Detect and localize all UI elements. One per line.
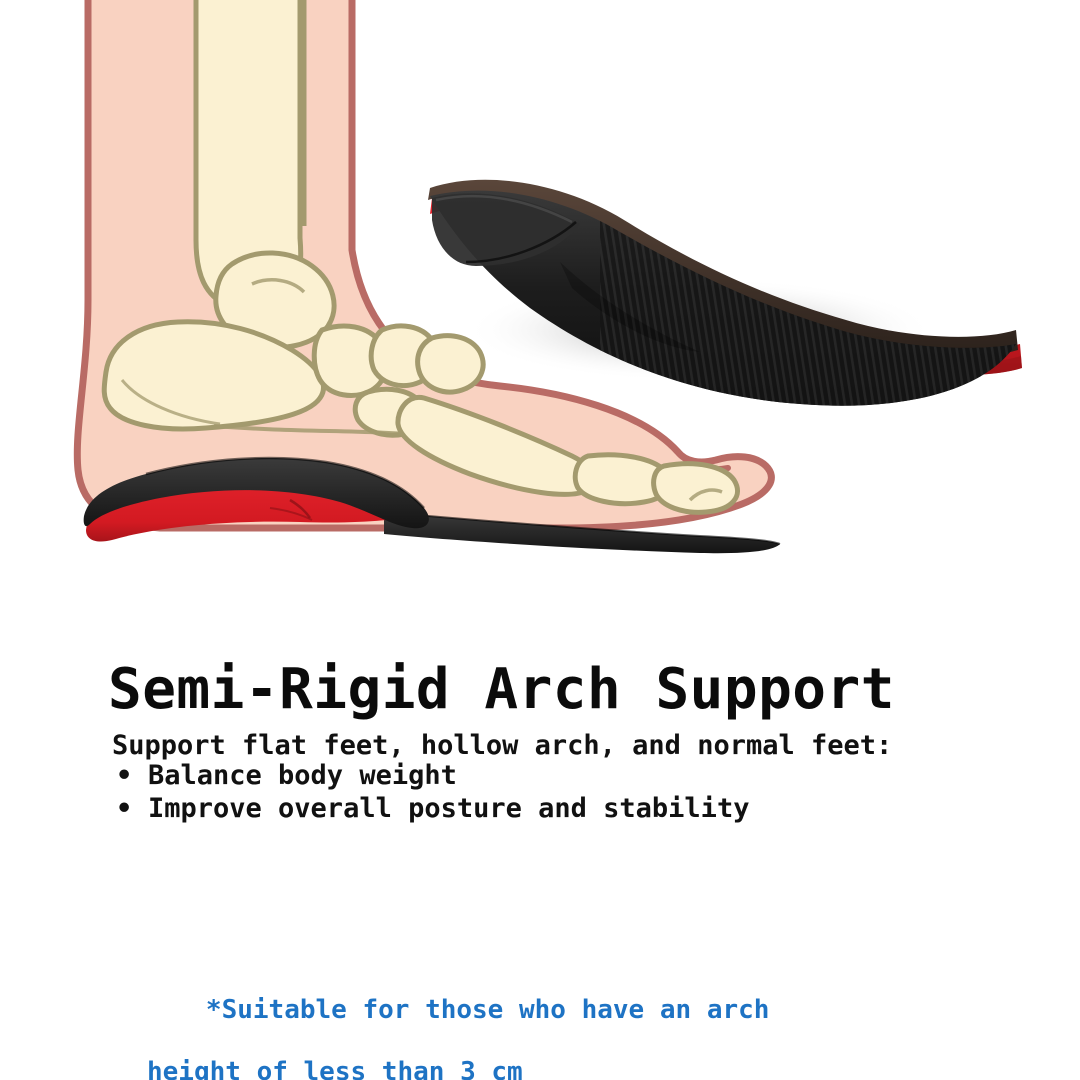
list-item-label: Balance body weight: [148, 760, 457, 791]
list-item: • Improve overall posture and stability: [112, 793, 749, 824]
page-title: Semi-Rigid Arch Support: [108, 662, 895, 718]
product-copy: Semi-Rigid Arch Support Support flat fee…: [0, 600, 1080, 1080]
bullet-icon: •: [116, 793, 132, 824]
footnote-line-2: height of less than 3 cm: [112, 1057, 769, 1080]
illustration-area: [0, 0, 1080, 600]
benefits-list: • Balance body weight • Improve overall …: [112, 760, 749, 826]
footnote-line-1: *Suitable for those who have an arch: [206, 995, 770, 1025]
footnote: *Suitable for those who have an arch hei…: [112, 964, 769, 1080]
list-item-label: Improve overall posture and stability: [148, 793, 749, 824]
list-item: • Balance body weight: [112, 760, 749, 791]
subtitle: Support flat feet, hollow arch, and norm…: [112, 732, 892, 759]
product-infographic-page: Semi-Rigid Arch Support Support flat fee…: [0, 0, 1080, 1080]
bullet-icon: •: [116, 760, 132, 791]
